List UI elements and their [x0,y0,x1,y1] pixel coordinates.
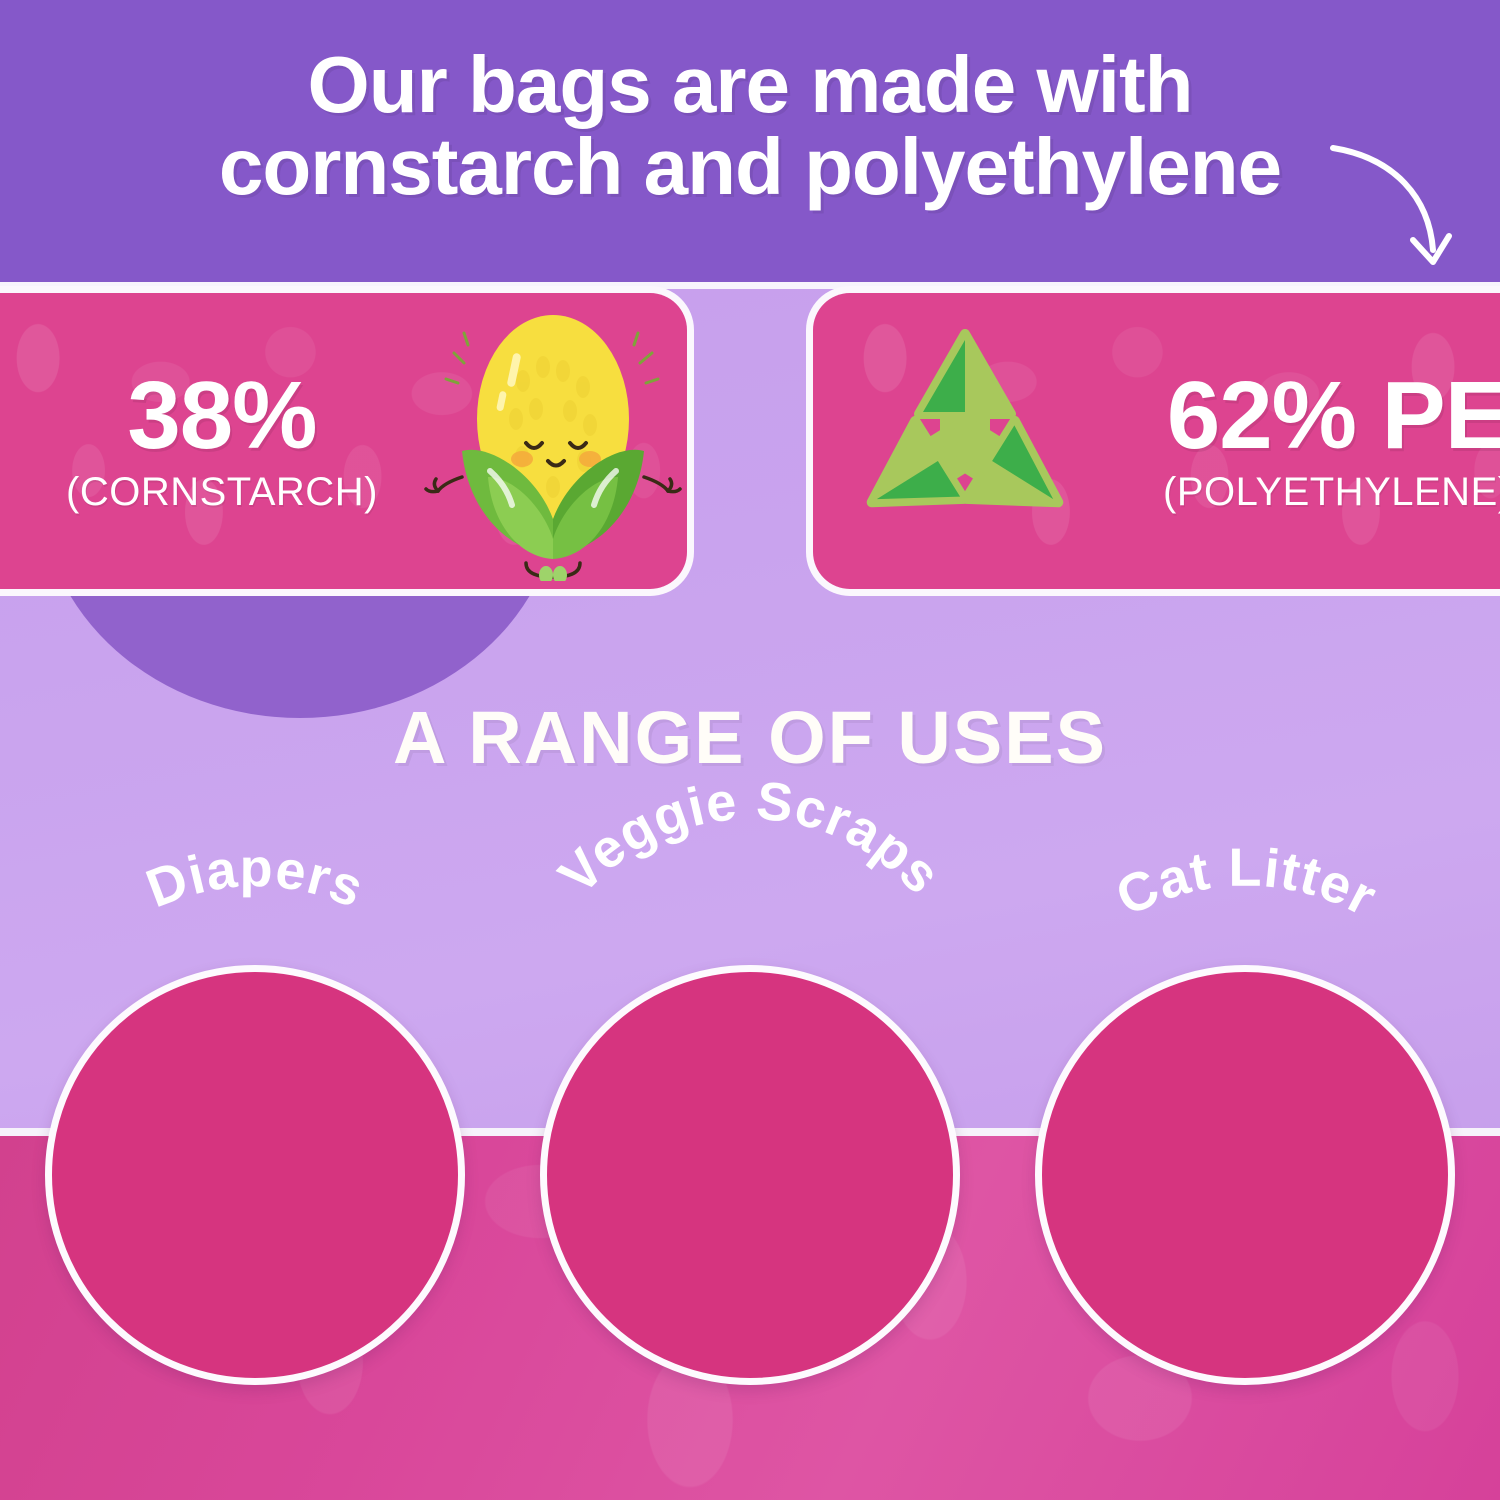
composition-cards: 38% (CORNSTARCH) [0,286,1500,598]
page-title: Our bags are made with cornstarch and po… [160,0,1340,207]
cornstarch-percent: 38% [127,368,316,464]
use-label-cat-litter: Cat Litter [1010,855,1480,975]
page-title-line-2: cornstarch and polyethylene [160,126,1340,208]
use-photo-frame-diapers [45,965,465,1385]
use-label-diapers: Diapers [20,855,490,975]
use-label-veggie-scraps: Veggie Scraps [515,855,985,975]
use-item-cat-litter: Cat Litter [1010,855,1480,1385]
page-title-line-1: Our bags are made with [160,44,1340,126]
infographic-canvas: Our bags are made with cornstarch and po… [0,0,1500,1500]
cornstarch-material-label: (CORNSTARCH) [66,470,378,515]
uses-gallery: Diapers Veggie Scraps Cat [0,855,1500,1455]
polyethylene-material-label: (POLYETHYLENE) [1163,470,1500,515]
corn-character-icon [418,301,688,581]
use-photo-frame-veggie-scraps [540,965,960,1385]
use-photo-frame-cat-litter [1035,965,1455,1385]
header-banner: Our bags are made with cornstarch and po… [0,0,1500,282]
polyethylene-stat: 62% PE (POLYETHYLENE) [1163,368,1500,515]
cornstarch-stat: 38% (CORNSTARCH) [66,368,378,515]
curved-down-arrow-icon [1325,140,1475,280]
polyethylene-card: 62% PE (POLYETHYLENE) [806,286,1500,596]
uses-section-title: A RANGE OF USES [0,695,1500,780]
use-item-diapers: Diapers [20,855,490,1385]
cornstarch-card: 38% (CORNSTARCH) [0,286,694,596]
polyethylene-percent: 62% PE [1167,368,1500,464]
use-item-veggie-scraps: Veggie Scraps [515,855,985,1385]
recycle-icon [853,316,1143,566]
